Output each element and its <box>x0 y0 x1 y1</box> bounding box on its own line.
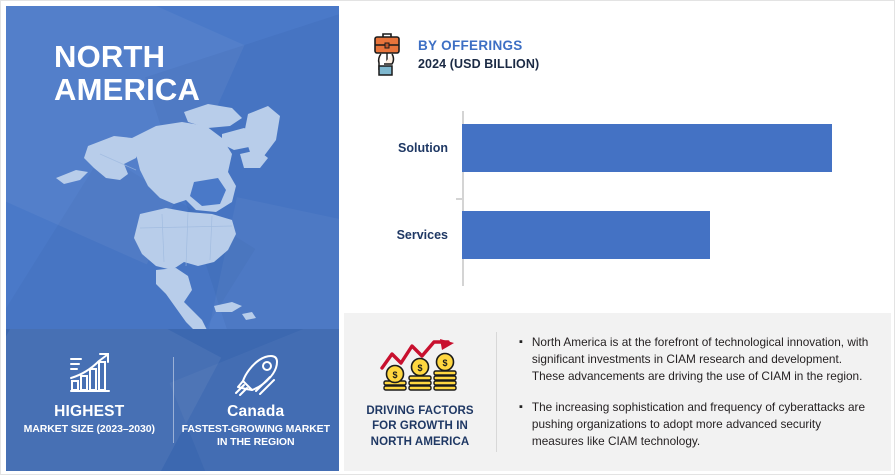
axis-tick <box>456 198 462 200</box>
bar-solution <box>462 124 832 172</box>
svg-text:$: $ <box>442 358 447 368</box>
map-area: NORTH AMERICA <box>6 6 339 329</box>
svg-text:$: $ <box>392 370 397 380</box>
stat-block-market-size: HIGHEST MARKET SIZE (2023–2030) <box>6 329 173 471</box>
coin-stacks-growth-icon: $ $ $ <box>374 338 466 400</box>
offerings-chart-panel: BY OFFERINGS 2024 (USD BILLION) Solution… <box>344 6 891 313</box>
list-item: ▪ North America is at the forefront of t… <box>519 334 873 386</box>
caption-line2: FOR GROWTH IN <box>366 419 473 434</box>
bar-chart-plot: Solution Services <box>344 106 891 296</box>
stat-headline: HIGHEST <box>54 403 124 421</box>
bar-row: Solution <box>462 124 832 172</box>
driving-factors-caption: DRIVING FACTORS FOR GROWTH IN NORTH AMER… <box>366 404 473 450</box>
chart-header: BY OFFERINGS 2024 (USD BILLION) <box>370 32 539 78</box>
stat-block-fastest-growing: Canada FASTEST-GROWING MARKET IN THE REG… <box>173 329 340 471</box>
page-title: NORTH AMERICA <box>54 40 200 107</box>
region-panel: NORTH AMERICA <box>6 6 339 471</box>
bar-services <box>462 211 710 259</box>
driving-factors-list: ▪ North America is at the forefront of t… <box>497 334 891 451</box>
bullet-icon: ▪ <box>519 335 523 386</box>
region-stats-bar: HIGHEST MARKET SIZE (2023–2030) Canada <box>6 329 339 471</box>
stats-divider <box>173 357 174 443</box>
bar-label: Solution <box>398 141 448 155</box>
region-title-line2: AMERICA <box>54 73 200 106</box>
chart-subtitle: 2024 (USD BILLION) <box>418 56 539 73</box>
caption-line3: NORTH AMERICA <box>366 435 473 450</box>
chart-header-text: BY OFFERINGS 2024 (USD BILLION) <box>418 37 539 72</box>
bar-label: Services <box>397 228 448 242</box>
region-infographic: NORTH AMERICA <box>0 0 895 475</box>
bullet-icon: ▪ <box>519 400 523 451</box>
rocket-icon <box>230 351 282 397</box>
list-item-text: The increasing sophistication and freque… <box>532 399 872 451</box>
bar-chart-growth-icon <box>63 351 115 397</box>
stat-headline: Canada <box>227 403 284 421</box>
north-america-map-icon <box>36 94 321 329</box>
driving-factors-panel: $ $ $ DRIVING <box>344 313 891 471</box>
bar-row: Services <box>462 211 710 259</box>
svg-text:$: $ <box>417 363 422 373</box>
list-item-text: North America is at the forefront of tec… <box>532 334 872 386</box>
list-item: ▪ The increasing sophistication and freq… <box>519 399 873 451</box>
stat-sublabel: MARKET SIZE (2023–2030) <box>24 423 155 436</box>
hand-briefcase-icon <box>370 32 404 78</box>
region-title-line1: NORTH <box>54 40 200 73</box>
stat-sublabel: FASTEST-GROWING MARKET IN THE REGION <box>181 423 331 449</box>
driving-factors-label-group: $ $ $ DRIVING <box>344 334 496 450</box>
caption-line1: DRIVING FACTORS <box>366 404 473 419</box>
chart-title: BY OFFERINGS <box>418 37 539 55</box>
